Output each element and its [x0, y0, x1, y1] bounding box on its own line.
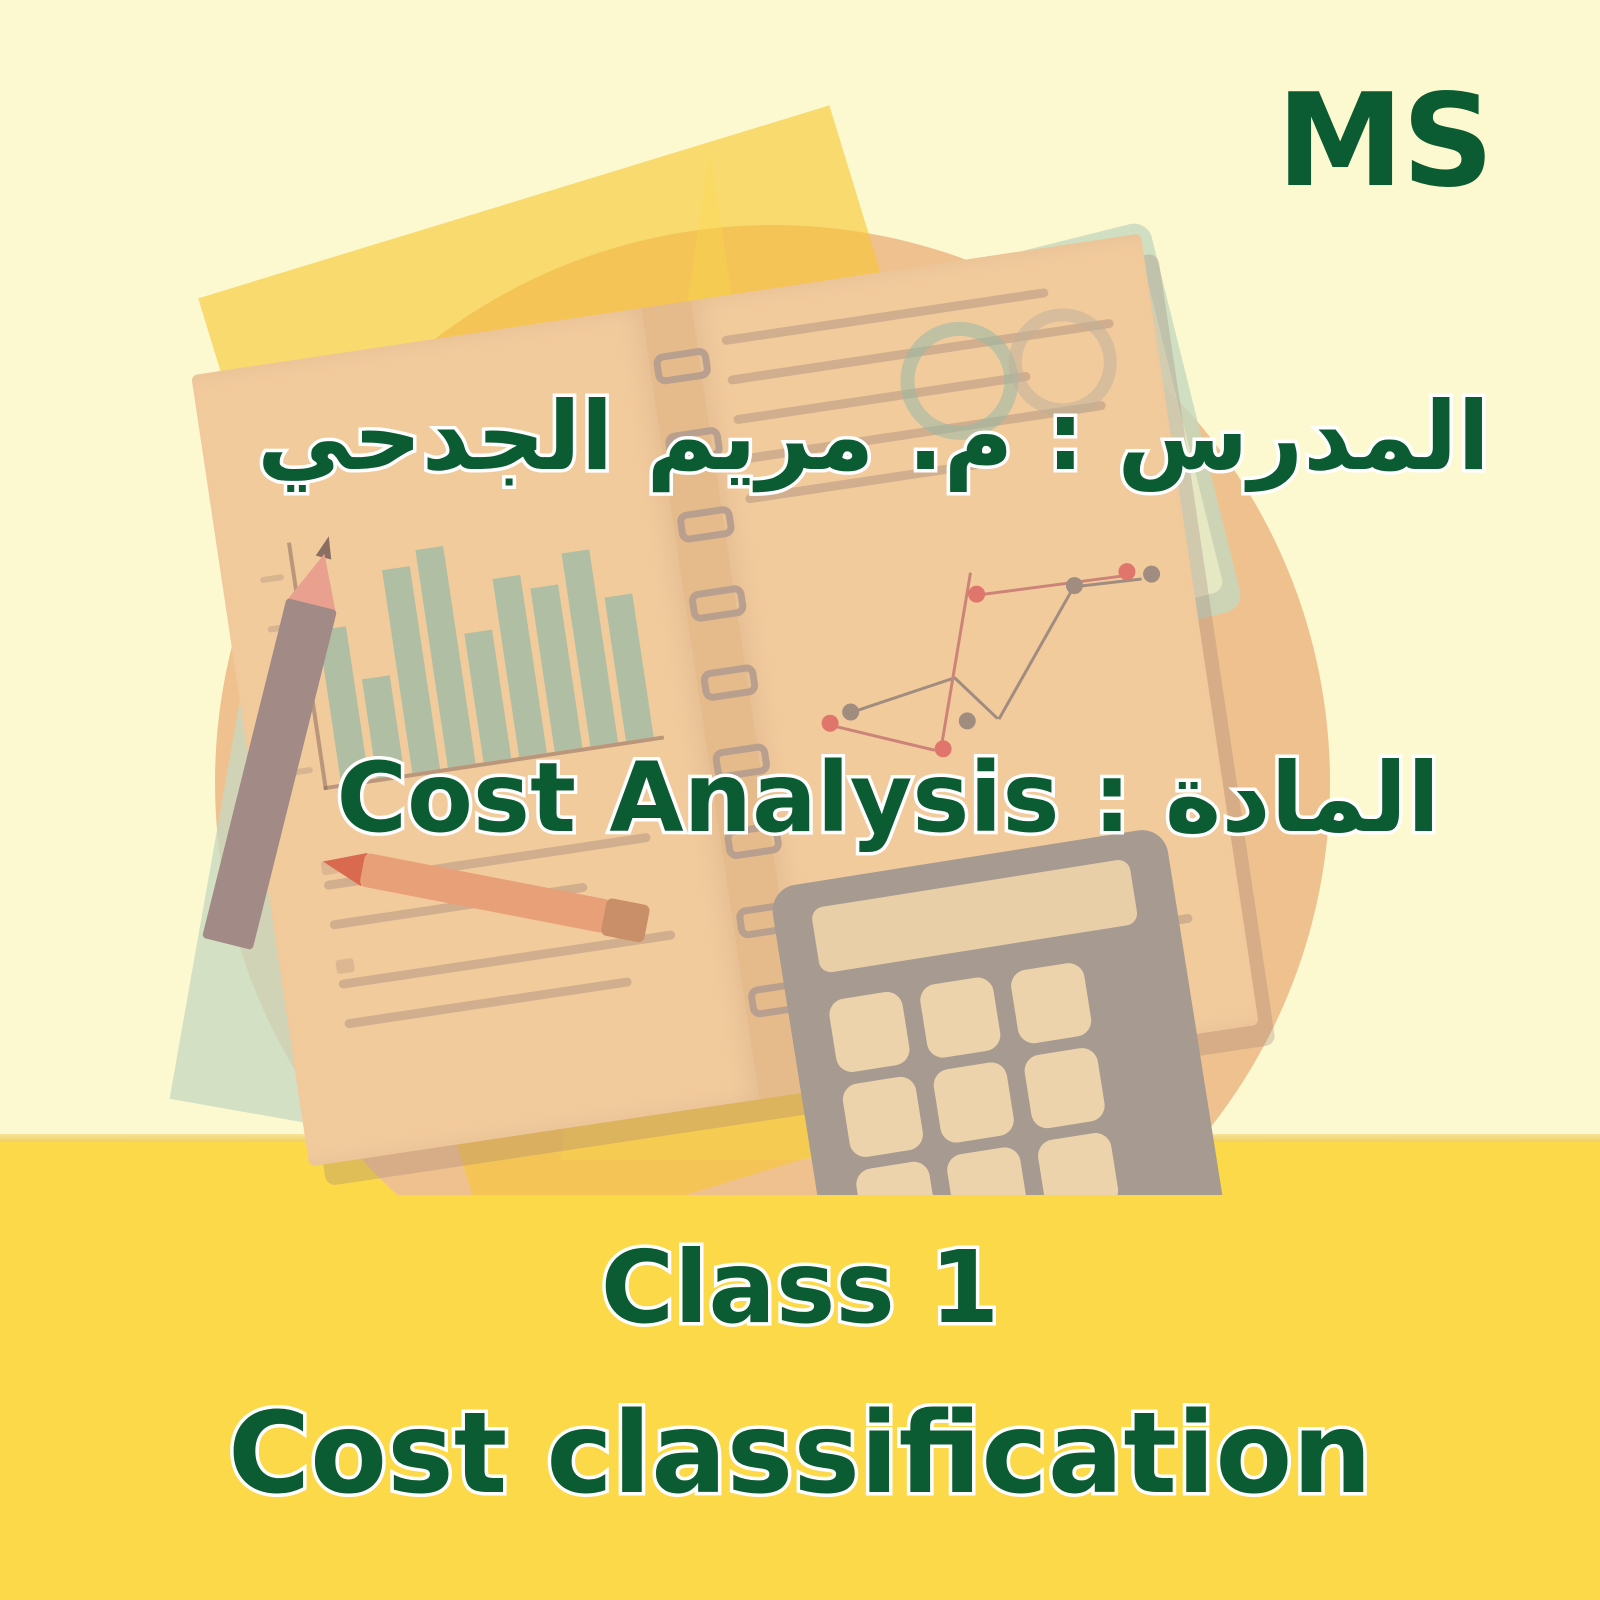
calculator-key: [931, 1060, 1016, 1145]
calculator-key: [1009, 961, 1094, 1046]
calculator-key: [841, 1075, 926, 1160]
notebook-bullet: [335, 958, 355, 975]
teacher-line: المدرس : م. مريم الجدحي: [257, 390, 1490, 485]
calculator-key: [827, 990, 912, 1075]
ms-logo: MS: [1276, 78, 1492, 206]
calculator-key: [1036, 1131, 1121, 1195]
line-point: [841, 702, 860, 721]
calculator-key: [1022, 1046, 1107, 1131]
lecture-title-slide: MS المدرس : م. مريم الجدحي المادة : Cost…: [0, 0, 1600, 1600]
line-point: [967, 584, 986, 603]
pen-cap: [600, 897, 650, 943]
class-label: Class 1: [0, 1238, 1600, 1338]
topic-label: Cost classification: [0, 1398, 1600, 1510]
line-segment: [974, 574, 1123, 597]
line-segment: [848, 677, 953, 715]
line-point: [1142, 564, 1161, 583]
line-segment: [953, 676, 999, 719]
line-point: [820, 714, 839, 733]
line-segment: [998, 588, 1074, 720]
calculator-key: [918, 975, 1003, 1060]
subject-line: المادة : Cost Analysis: [337, 750, 1440, 846]
calculator: [769, 826, 1231, 1195]
line-point: [958, 711, 977, 730]
